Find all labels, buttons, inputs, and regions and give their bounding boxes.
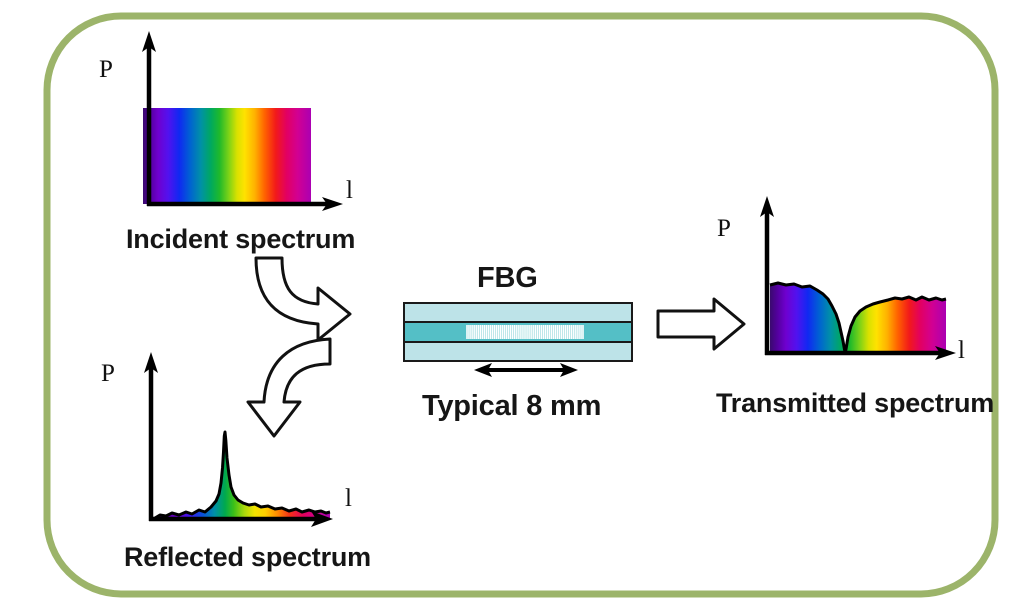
- fbg-title: FBG: [477, 262, 538, 295]
- block-arrow-right-icon: [658, 299, 744, 349]
- fbg-length-label: Typical 8 mm: [422, 390, 601, 423]
- incident-x-axis-label: l: [346, 177, 353, 205]
- fbg-upper-cladding: [404, 303, 632, 322]
- reflected-y-axis-label: P: [101, 360, 115, 388]
- incident-spectrum-caption: Incident spectrum: [126, 224, 355, 255]
- reflected-x-axis-label: l: [345, 485, 352, 513]
- transmitted-spectrum-chart: [760, 196, 956, 360]
- fbg-lower-cladding: [404, 342, 632, 361]
- reflected-spectrum-area: [155, 420, 330, 520]
- reflected-spectrum-chart: [144, 352, 333, 527]
- fbg-device: [404, 303, 632, 361]
- figure-canvas: Incident spectrum Reflected spectrum Tra…: [0, 0, 1024, 610]
- curved-arrow-down-left-icon: [248, 339, 330, 436]
- incident-y-axis-label: P: [99, 56, 113, 84]
- incident-spectrum-chart: [142, 31, 343, 211]
- transmitted-x-axis-label: l: [958, 337, 965, 365]
- curved-arrow-down-right-icon: [256, 258, 350, 340]
- transmitted-y-axis-label: P: [717, 215, 731, 243]
- transmitted-spectrum-area: [770, 280, 946, 355]
- transmitted-spectrum-caption: Transmitted spectrum: [716, 388, 994, 419]
- diagram-graphics: [0, 0, 1024, 610]
- reflected-spectrum-caption: Reflected spectrum: [124, 542, 371, 573]
- fbg-length-arrow: [474, 363, 578, 377]
- incident-spectrum-area: [143, 108, 311, 204]
